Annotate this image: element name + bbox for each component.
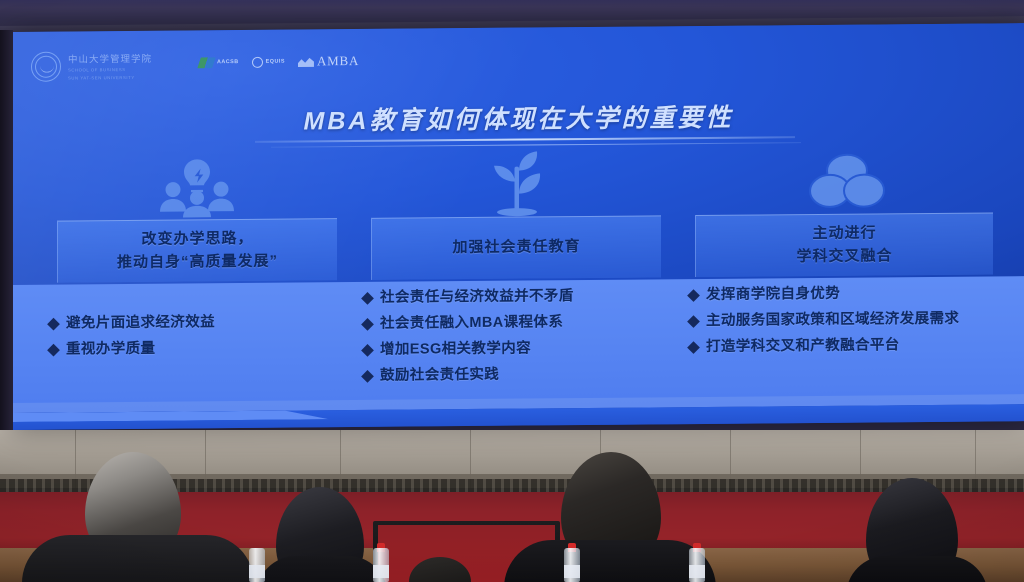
column-heading-box-3: 主动进行 学科交叉融合 [695,212,993,277]
presentation-slide: 中山大学管理学院 SCHOOL OF BUSINESS SUN YAT-SEN … [13,23,1024,430]
equis-mark-icon [252,56,263,67]
bullet-text: 社会责任融入MBA课程体系 [380,312,563,334]
diamond-bullet-icon [687,341,700,354]
column-heading-3-line1: 主动进行 [796,222,892,245]
university-crest-icon [31,52,61,82]
equis-label: EQUIS [266,59,285,65]
bullet-column-3: 发挥商学院自身优势 主动服务国家政策和区域经济发展需求 打造学科交叉和产教融合平… [689,276,1009,362]
bullet-column-2: 社会责任与经济效益并不矛盾 社会责任融入MBA课程体系 增加ESG相关教学内容 … [363,279,673,391]
aacsb-mark-icon [197,57,216,68]
seedling-sprout-icon [417,147,617,221]
list-item: 社会责任与经济效益并不矛盾 [363,285,673,309]
school-logo: 中山大学管理学院 SCHOOL OF BUSINESS SUN YAT-SEN … [31,51,152,83]
laptop-monitor [373,521,560,582]
team-idea-lightbulb-icon [97,150,297,224]
bullet-text: 重视办学质量 [66,339,155,361]
list-item: 重视办学质量 [49,337,349,360]
list-item: 增加ESG相关教学内容 [363,337,673,361]
bullet-text: 避免片面追求经济效益 [66,312,215,334]
column-heading-3: 主动进行 学科交叉融合 [796,222,892,268]
diamond-bullet-icon [687,289,700,302]
left-wall-edge [0,30,13,430]
column-heading-box-2: 加强社会责任教育 [371,215,661,280]
diamond-bullet-icon [361,292,374,305]
diamond-bullet-icon [47,318,60,331]
diamond-bullet-icon [687,315,700,328]
column-heading-1-line1: 改变办学思路， [117,228,278,252]
column-heading-box-1: 改变办学思路， 推动自身“高质量发展” [57,218,337,282]
school-name-en-line2: SUN YAT-SEN UNIVERSITY [68,75,152,82]
aacsb-logo-icon: AACSB [199,57,239,68]
column-heading-1-line2: 推动自身“高质量发展” [117,250,278,274]
list-item: 社会责任融入MBA课程体系 [363,311,673,335]
venn-three-circles-icon [747,144,947,218]
amba-mark-icon [298,56,314,67]
bullet-text: 打造学科交叉和产教融合平台 [706,335,900,358]
equis-logo-icon: EQUIS [252,56,285,67]
diamond-bullet-icon [361,370,374,383]
list-item: 主动服务国家政策和区域经济发展需求 [689,308,1009,332]
bullet-column-1: 避免片面追求经济效益 重视办学质量 [49,282,349,365]
bullet-columns: 避免片面追求经济效益 重视办学质量 社会责任与经济效益并不矛盾 社会责任融入MB… [13,276,1024,413]
column-heading-1: 改变办学思路， 推动自身“高质量发展” [117,228,278,274]
column-heading-2-line1: 加强社会责任教育 [452,236,580,260]
school-name-cn: 中山大学管理学院 [68,51,152,66]
list-item: 打造学科交叉和产教融合平台 [689,334,1009,358]
list-item: 鼓励社会责任实践 [363,363,673,387]
projection-screen: 中山大学管理学院 SCHOOL OF BUSINESS SUN YAT-SEN … [13,23,1024,430]
school-name-block: 中山大学管理学院 SCHOOL OF BUSINESS SUN YAT-SEN … [68,51,152,82]
bullet-text: 主动服务国家政策和区域经济发展需求 [706,309,959,332]
column-heading-3-line2: 学科交叉融合 [796,245,892,268]
bullet-text: 鼓励社会责任实践 [380,364,499,386]
column-heading-boxes: 改变办学思路， 推动自身“高质量发展” 加强社会责任教育 主动进行 学科交叉融合 [13,212,1024,285]
aacsb-label: AACSB [217,59,239,65]
diamond-bullet-icon [361,318,374,331]
amba-label: AMBA [317,53,359,69]
diamond-bullet-icon [361,344,374,357]
column-heading-2: 加强社会责任教育 [452,236,580,260]
accreditation-logos: AACSB EQUIS AMBA [199,53,359,70]
column-icons-row [13,143,1024,224]
list-item: 避免片面追求经济效益 [49,311,349,334]
bullet-text: 发挥商学院自身优势 [706,284,840,306]
amba-logo-icon: AMBA [298,53,359,70]
bullet-text: 增加ESG相关教学内容 [380,338,531,360]
school-name-en-line1: SCHOOL OF BUSINESS [68,67,152,74]
monitor-screen [378,525,555,582]
diamond-bullet-icon [47,344,60,357]
list-item: 发挥商学院自身优势 [689,282,1009,306]
bullet-text: 社会责任与经济效益并不矛盾 [380,286,574,309]
